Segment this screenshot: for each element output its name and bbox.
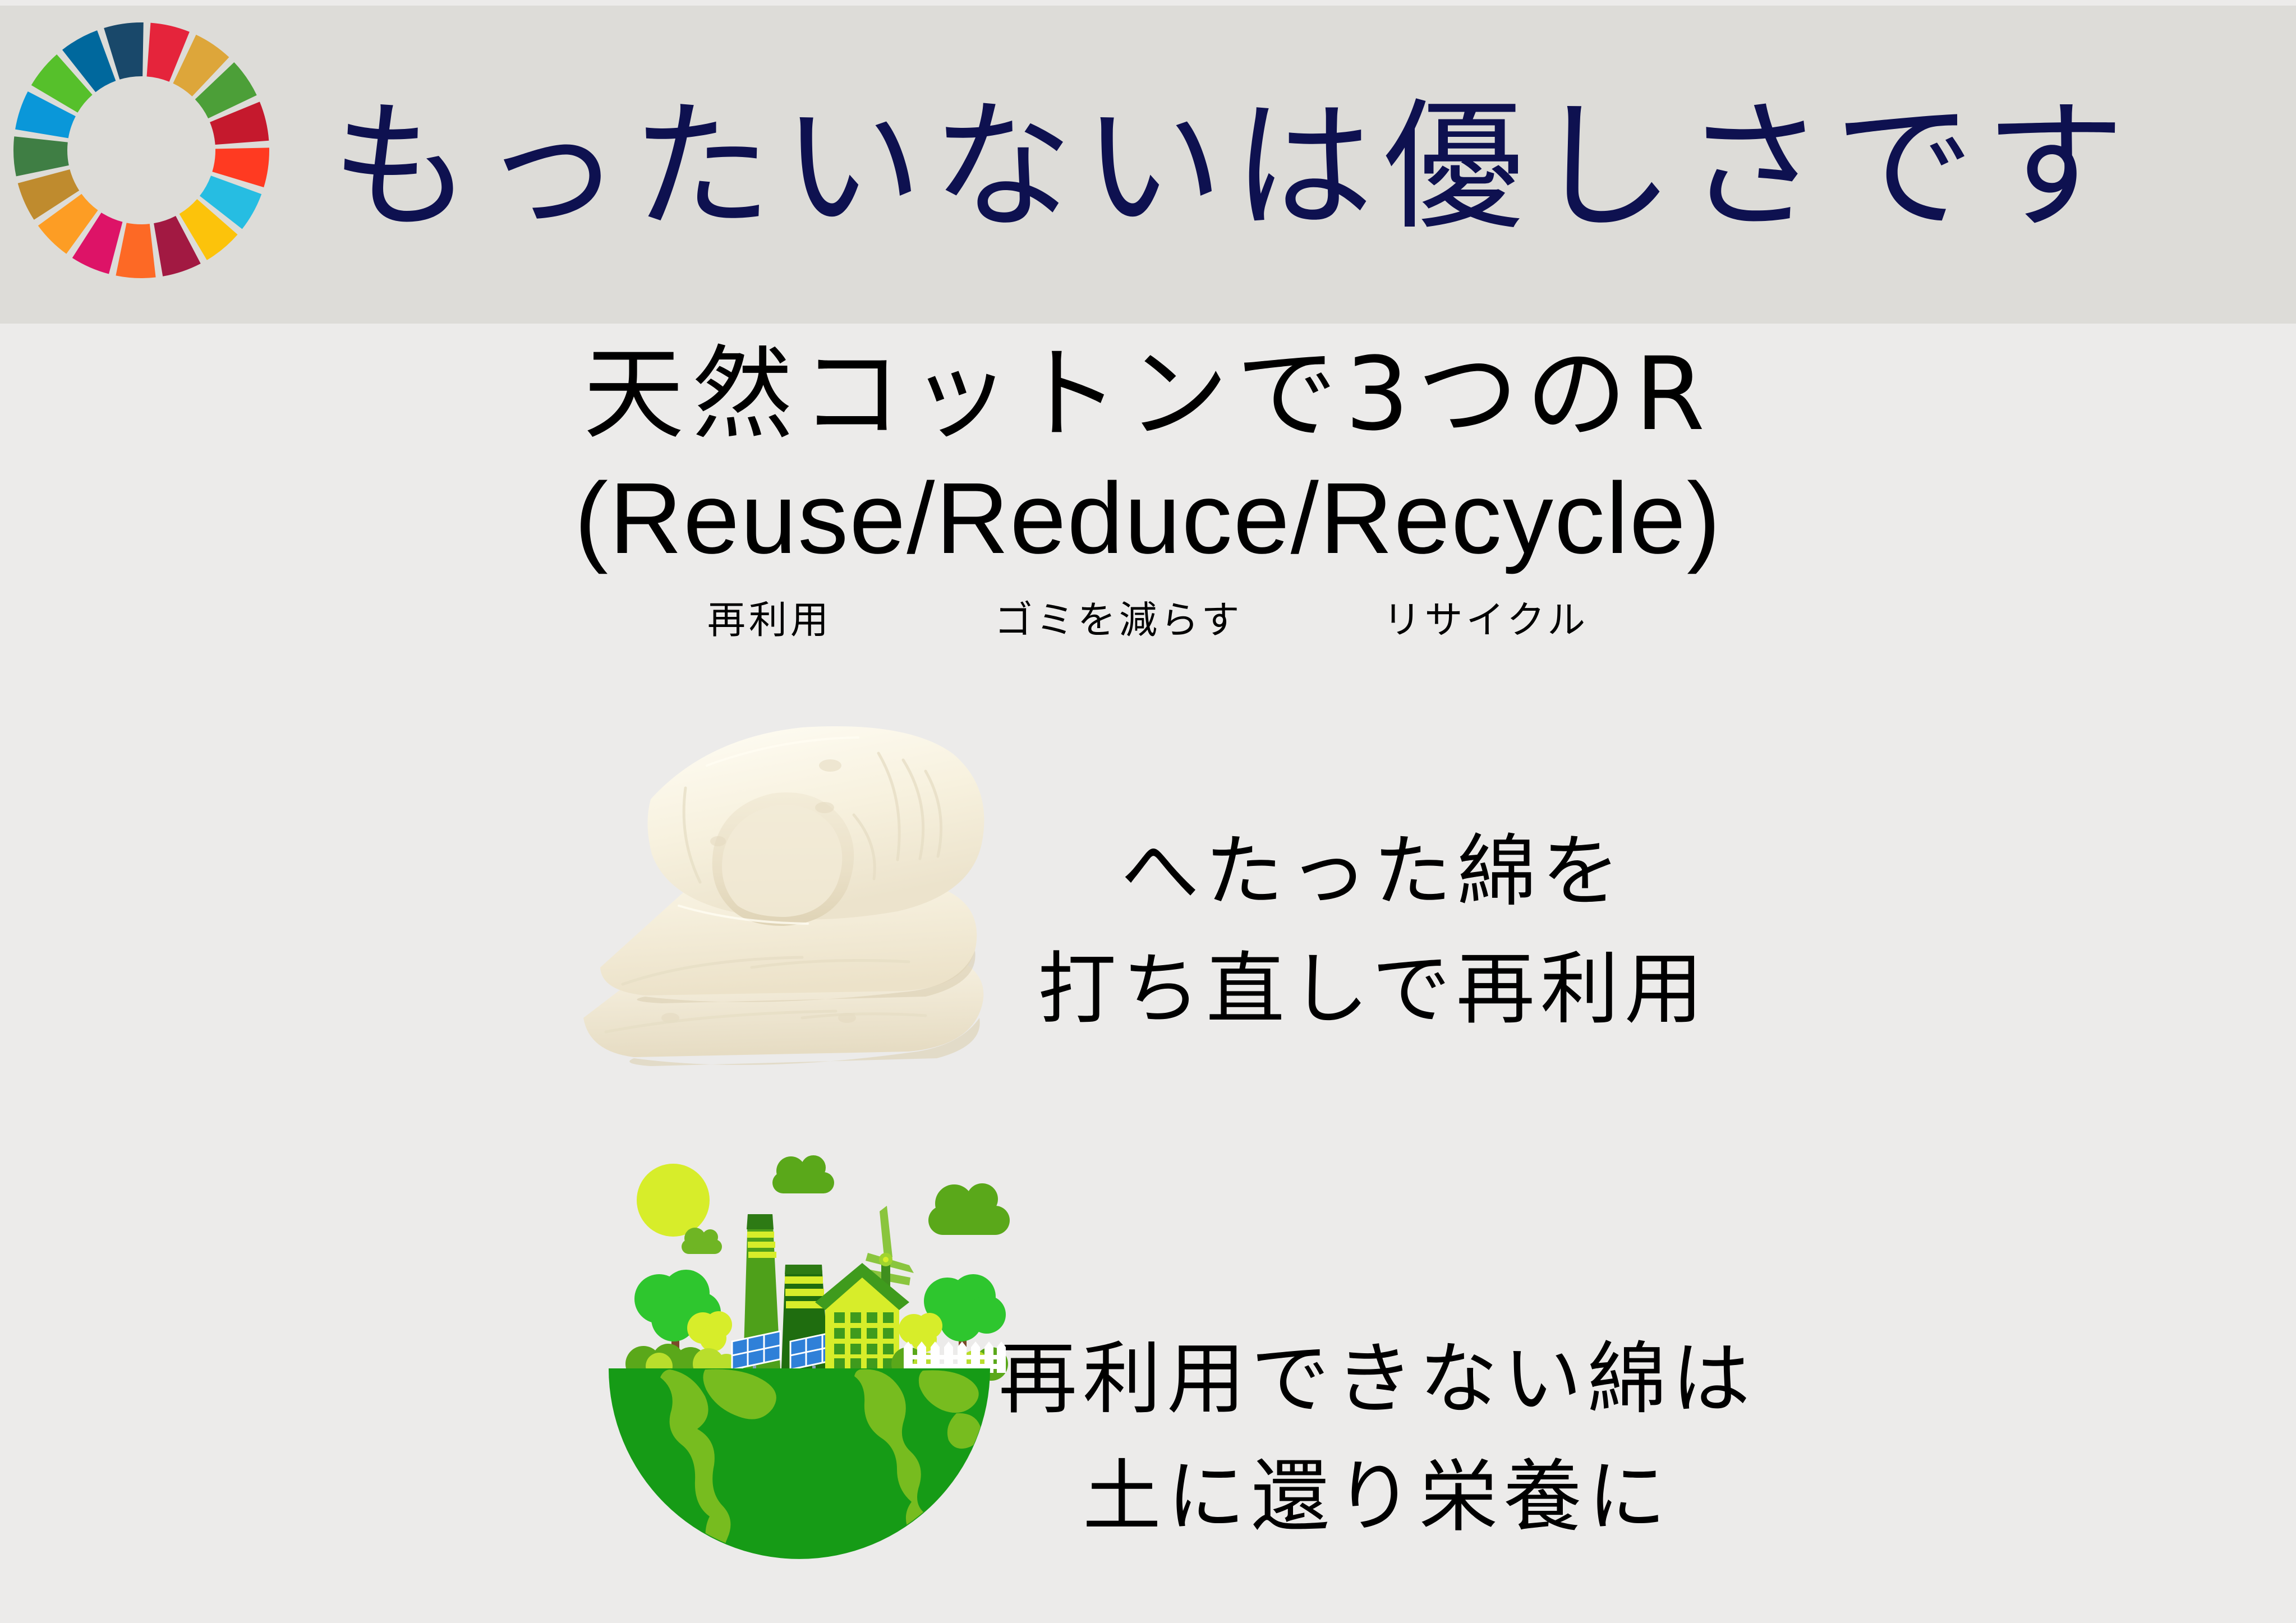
ruby-reduce: ゴミを減らす [995,589,1243,644]
ruby-recycle: リサイクル [1383,589,1589,644]
sdg-wheel-segment [13,136,69,176]
header-band: もったいないは優しさです [0,6,2296,324]
caption-reuse: へたった綿を 打ち直しで再利用 [1038,740,1709,1049]
earth-globe [609,1368,990,1569]
caption-reuse-line2: 打ち直しで再利用 [1038,931,1709,1049]
earth-art-slot [555,1127,1021,1610]
folded-futon-image [567,704,1015,1091]
poster-canvas: もったいないは優しさです 天然コットンで3つのR (Reuse/Reduce/R… [0,0,2296,1623]
title-line-japanese: 天然コットンで3つのR [0,336,2296,453]
sun-icon [637,1164,710,1237]
sdg-color-wheel-icon [7,16,276,285]
section-reuse: へたった綿を 打ち直しで再利用 [0,690,2296,1099]
ruby-annotation-row: 再利用 ゴミを減らす リサイクル [0,589,2296,644]
ruby-spacer-1 [832,589,995,644]
sdg-wheel-segment [116,223,155,278]
page-title: もったいないは優しさです [331,27,2227,307]
ruby-reuse: 再利用 [707,589,832,644]
picket-fence [904,1341,1006,1373]
caption-recycle-line1: 再利用できない綿は [999,1321,1756,1438]
caption-recycle-line2: 土に還り栄養に [999,1438,1756,1556]
section-recycle: 再利用できない綿は 土に還り栄養に [0,1127,2296,1610]
caption-recycle: 再利用できない綿は 土に還り栄養に [999,1181,1756,1556]
futon-art-slot [555,690,1021,1099]
title-line-english: (Reuse/Reduce/Recycle) [0,458,2296,579]
title-block: 天然コットンで3つのR (Reuse/Reduce/Recycle) [0,336,2296,579]
green-eco-earth-image [575,1133,1024,1601]
caption-reuse-line1: へたった綿を [1038,813,1709,931]
ruby-spacer-2 [1243,589,1383,644]
